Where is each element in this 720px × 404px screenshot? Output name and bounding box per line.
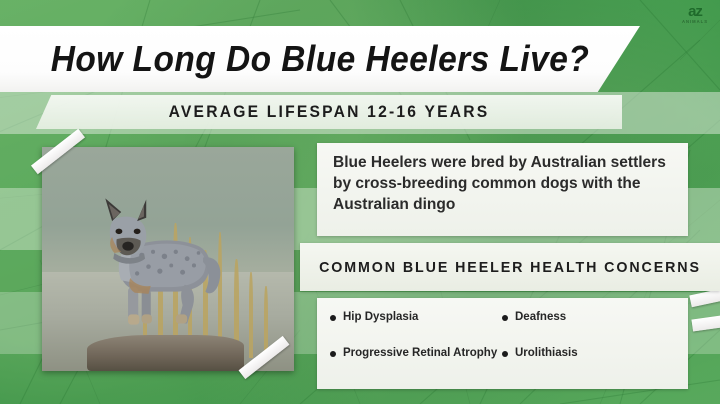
- subtitle-text: AVERAGE LIFESPAN 12-16 YEARS: [59, 95, 598, 129]
- photo-rock: [87, 335, 243, 371]
- intro-text: Blue Heelers were bred by Australian set…: [333, 152, 681, 215]
- logo-wordmark: ANIMALS: [682, 19, 708, 24]
- dog-figure: [82, 187, 233, 335]
- health-list: Hip Dysplasia Deafness Progressive Retin…: [330, 305, 682, 385]
- az-animals-logo[interactable]: az ANIMALS: [676, 3, 714, 25]
- list-item: Urolithiasis: [502, 341, 682, 381]
- list-item: Progressive Retinal Atrophy: [330, 341, 502, 381]
- list-item-label: Urolithiasis: [515, 347, 578, 361]
- bullet-dot-icon: [330, 351, 336, 357]
- page-title: How Long Do Blue Heelers Live?: [22, 26, 617, 92]
- dog-photo: [42, 147, 294, 371]
- list-item-label: Progressive Retinal Atrophy: [343, 347, 497, 361]
- bullet-dot-icon: [502, 315, 508, 321]
- list-item-label: Deafness: [515, 311, 566, 325]
- list-item-label: Hip Dysplasia: [343, 311, 418, 325]
- bullet-dot-icon: [502, 351, 508, 357]
- logo-mark: az: [688, 5, 702, 19]
- infographic-canvas: az ANIMALS How Long Do Blue Heelers Live…: [0, 0, 720, 404]
- bullet-dot-icon: [330, 315, 336, 321]
- list-item: Deafness: [502, 305, 682, 341]
- list-item: Hip Dysplasia: [330, 305, 502, 341]
- health-heading: COMMON BLUE HEELER HEALTH CONCERNS: [311, 243, 710, 291]
